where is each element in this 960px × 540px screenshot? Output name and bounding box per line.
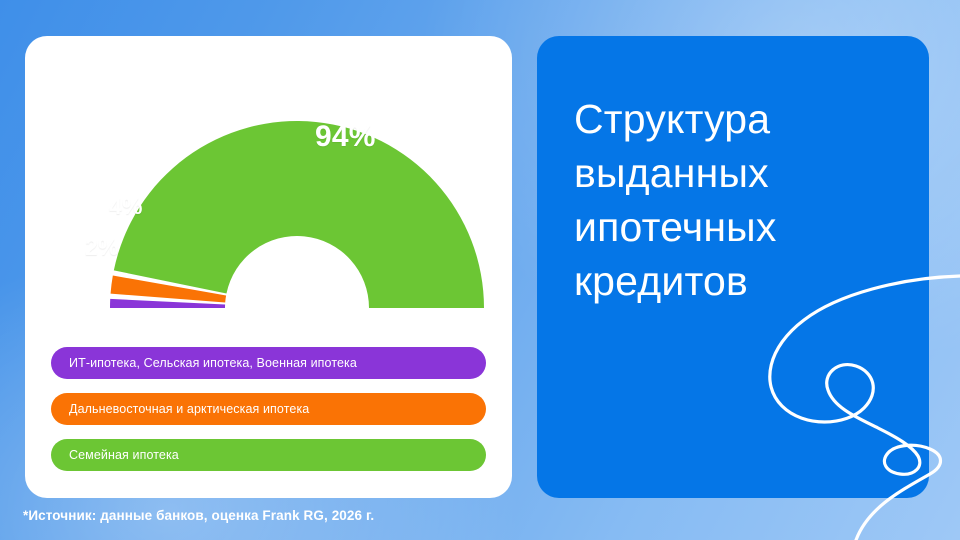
slice-label-purple: 2% — [85, 234, 119, 261]
donut-svg — [25, 36, 512, 308]
legend-item-family[interactable]: Семейная ипотека — [51, 439, 486, 471]
source-footnote: *Источник: данные банков, оценка Frank R… — [23, 508, 374, 523]
legend-item-far-east-arctic[interactable]: Дальневосточная и арктическая ипотека — [51, 393, 486, 425]
legend-item-label: ИТ-ипотека, Сельская ипотека, Военная ип… — [69, 356, 357, 370]
title-panel: Структура выданных ипотечных кредитов — [537, 36, 929, 498]
slide-canvas: 2% 4% 94% ИТ-ипотека, Сельская ипотека, … — [0, 0, 960, 540]
chart-legend: ИТ-ипотека, Сельская ипотека, Военная ип… — [51, 347, 486, 471]
legend-item-it-rural-military[interactable]: ИТ-ипотека, Сельская ипотека, Военная ип… — [51, 347, 486, 379]
donut-slices — [110, 121, 484, 308]
legend-item-label: Семейная ипотека — [69, 448, 179, 462]
chart-card: 2% 4% 94% ИТ-ипотека, Сельская ипотека, … — [25, 36, 512, 498]
legend-item-label: Дальневосточная и арктическая ипотека — [69, 402, 309, 416]
slice-label-green: 94% — [315, 120, 376, 154]
slice-label-orange: 4% — [109, 193, 143, 220]
page-title: Структура выданных ипотечных кредитов — [574, 92, 904, 308]
half-donut-chart: 2% 4% 94% — [25, 36, 512, 306]
donut-slice[interactable] — [114, 121, 484, 308]
